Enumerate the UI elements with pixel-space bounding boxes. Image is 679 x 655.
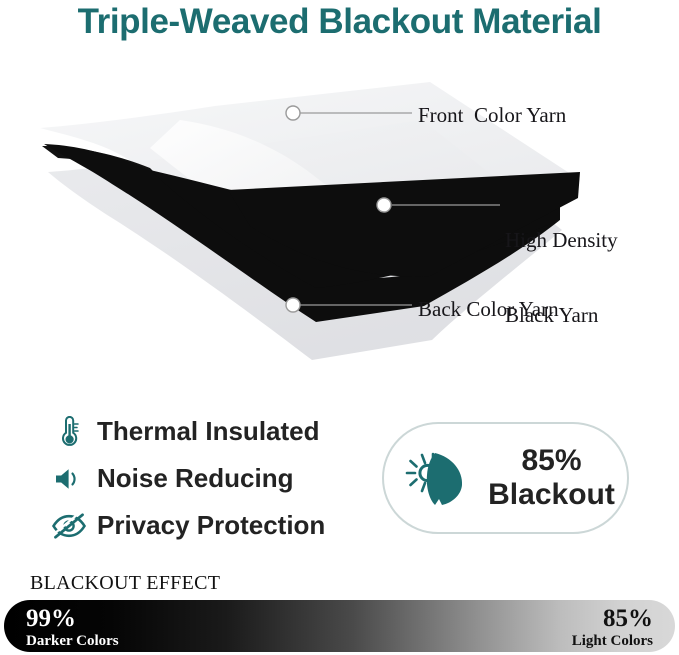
callout-label-front: Front Color Yarn: [418, 103, 566, 128]
feature-label-thermal-insulated: Thermal Insulated: [97, 416, 320, 447]
callout-label-middle-line1: High Density: [505, 228, 618, 253]
callout-label-middle: High Density Black Yarn: [505, 178, 618, 353]
speaker-sound-icon: [48, 461, 90, 497]
callout-marker-back: [286, 298, 300, 312]
badge-percent: 85%: [476, 444, 627, 478]
badge-text: 85% Blackout: [476, 444, 627, 512]
page-title: Triple-Weaved Blackout Material: [0, 2, 679, 42]
feature-item-thermal-insulated: Thermal Insulated: [48, 408, 368, 455]
callout-marker-middle: [377, 198, 391, 212]
feature-list: Thermal Insulated Noise Reducing Privacy…: [48, 408, 368, 549]
thermometer-icon: [48, 414, 90, 450]
callout-label-back: Back Color Yarn: [418, 297, 559, 322]
callout-marker-front: [286, 106, 300, 120]
blackout-badge: 85% Blackout: [382, 422, 629, 534]
gradient-bar-left-caption: Darker Colors: [26, 634, 119, 649]
feature-label-privacy-protection: Privacy Protection: [97, 510, 325, 541]
badge-word: Blackout: [476, 478, 627, 512]
gradient-bar-left-stat: 99% Darker Colors: [26, 606, 119, 649]
gradient-bar-right-stat: 85% Light Colors: [572, 606, 653, 649]
gradient-bar-right-caption: Light Colors: [572, 634, 653, 649]
feature-label-noise-reducing: Noise Reducing: [97, 463, 293, 494]
gradient-bar-left-percent: 99%: [26, 606, 119, 631]
sun-blocked-by-curtain-icon: [396, 442, 480, 514]
feature-item-privacy-protection: Privacy Protection: [48, 502, 368, 549]
blackout-effect-heading: BLACKOUT EFFECT: [30, 572, 220, 595]
blackout-effect-gradient-bar: 99% Darker Colors 85% Light Colors: [4, 600, 675, 652]
feature-item-noise-reducing: Noise Reducing: [48, 455, 368, 502]
eye-slash-icon: [48, 508, 90, 544]
gradient-bar-right-percent: 85%: [572, 606, 653, 631]
